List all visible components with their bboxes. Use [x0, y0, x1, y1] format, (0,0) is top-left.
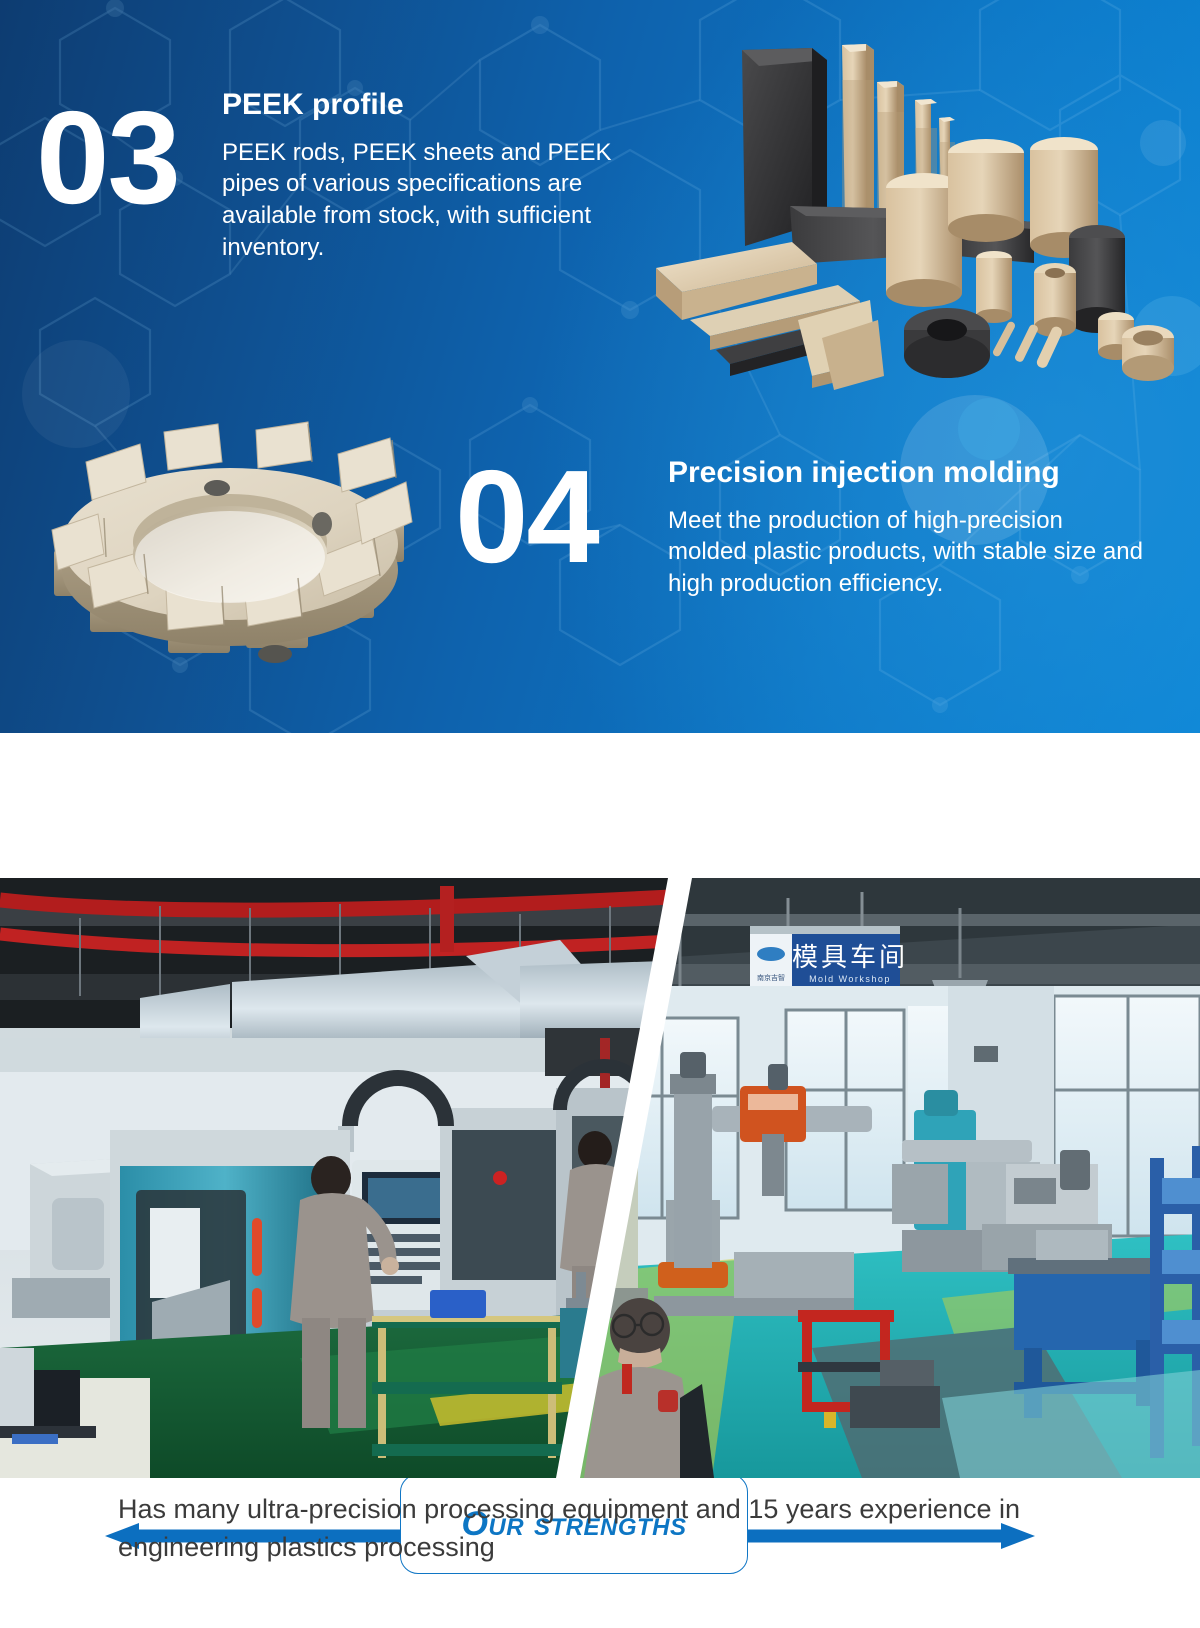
feature-body-03: PEEK rods, PEEK sheets and PEEK pipes of… — [222, 137, 642, 264]
feature-text-04: Precision injection molding Meet the pro… — [668, 456, 1148, 600]
workshop-gallery: 南京吉智 模具车间 Mold Workshop — [0, 878, 1200, 1478]
svg-text:Mold Workshop: Mold Workshop — [809, 974, 891, 984]
decorative-circle — [958, 398, 1020, 460]
product-feature-page: 03 PEEK profile PEEK rods, PEEK sheets a… — [0, 0, 1200, 1628]
feature-body-04: Meet the production of high-precision mo… — [668, 505, 1148, 600]
gallery-caption: Has many ultra-precision processing equi… — [0, 1490, 1200, 1567]
svg-text:模具车间: 模具车间 — [792, 942, 908, 972]
peek-molded-gear-ring-photo — [40, 402, 420, 688]
feature-number-03: 03 — [36, 96, 179, 220]
feature-number-04: 04 — [455, 455, 598, 579]
svg-text:南京吉智: 南京吉智 — [757, 973, 785, 982]
strengths-banner-section: Our strengths — [0, 733, 1200, 878]
cnc-machining-workshop-photo — [0, 878, 690, 1478]
feature-text-03: PEEK profile PEEK rods, PEEK sheets and … — [222, 88, 642, 263]
feature-title-03: PEEK profile — [222, 88, 642, 123]
peek-profile-products-photo — [612, 20, 1188, 392]
hero-section: 03 PEEK profile PEEK rods, PEEK sheets a… — [0, 0, 1200, 733]
feature-title-04: Precision injection molding — [668, 456, 1148, 491]
